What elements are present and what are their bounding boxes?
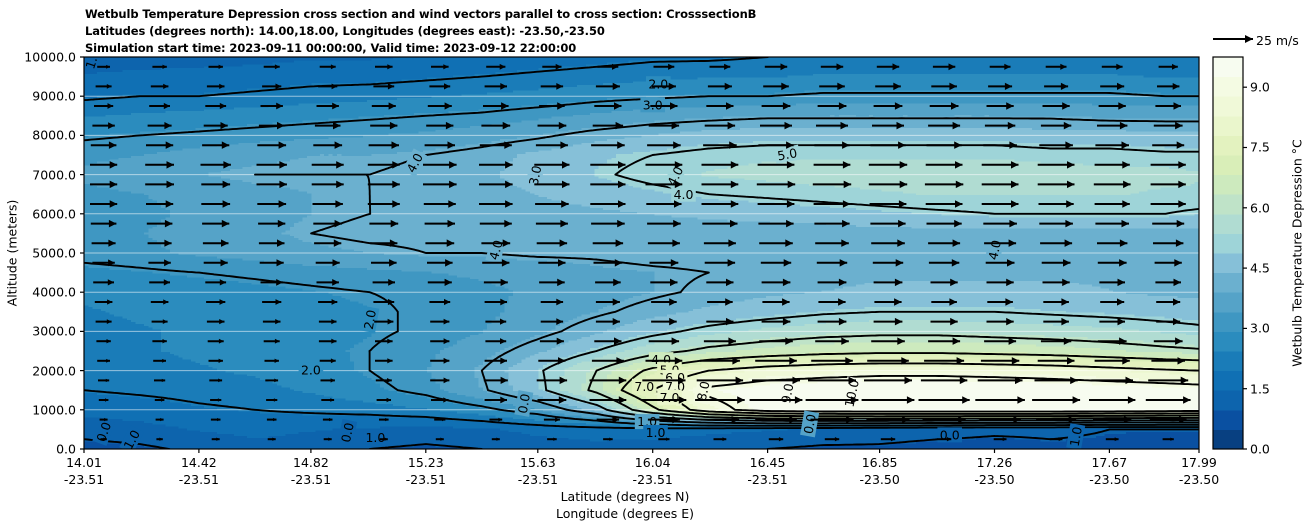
y-axis-tick-label: 7000.0 <box>0 167 76 182</box>
x-axis-tick-label-latitude: 17.67 <box>1091 455 1127 470</box>
contour-label: 4.0 <box>671 187 696 202</box>
y-axis-tick-label: 9000.0 <box>0 89 76 104</box>
contour-label: 0.0 <box>937 427 962 442</box>
cross-section-plot: 1.02.03.05.04.03.04.04.04.04.02.02.04.05… <box>0 0 1312 526</box>
colorbar-tick-label: 0.0 <box>1250 442 1270 457</box>
x-axis-tick-label-longitude: -23.51 <box>64 472 104 487</box>
x-axis-tick-label-longitude: -23.51 <box>291 472 331 487</box>
y-axis-tick-label: 0.0 <box>0 442 76 457</box>
y-axis-tick-label: 8000.0 <box>0 128 76 143</box>
y-axis-tick-label: 3000.0 <box>0 324 76 339</box>
y-axis-tick-label: 4000.0 <box>0 285 76 300</box>
y-axis-tick-label: 10000.0 <box>0 50 76 65</box>
colorbar-tick-label: 9.0 <box>1250 80 1270 95</box>
x-axis-tick-label-longitude: -23.50 <box>859 472 899 487</box>
x-axis-tick-label-longitude: -23.50 <box>1089 472 1129 487</box>
y-axis-tick-label: 2000.0 <box>0 363 76 378</box>
x-axis-tick-label-latitude: 17.99 <box>1181 455 1217 470</box>
y-axis-tick-label: 6000.0 <box>0 206 76 221</box>
contour-label: 2.0 <box>299 362 324 377</box>
x-axis-tick-label-longitude: -23.51 <box>406 472 446 487</box>
colorbar-tick-label: 4.5 <box>1250 261 1270 276</box>
x-axis-tick-label-latitude: 17.26 <box>977 455 1013 470</box>
x-axis-tick-label-longitude: -23.51 <box>747 472 787 487</box>
contour-label: 7.0 <box>657 390 682 405</box>
x-axis-tick-label-longitude: -23.51 <box>179 472 219 487</box>
x-axis-tick-label-latitude: 14.01 <box>66 455 102 470</box>
x-axis-tick-label-latitude: 15.23 <box>408 455 444 470</box>
contour-label: 2.0 <box>646 76 671 91</box>
colorbar-tick-label: 6.0 <box>1250 200 1270 215</box>
x-axis-tick-label-latitude: 16.85 <box>862 455 898 470</box>
x-axis-tick-label-latitude: 16.45 <box>750 455 786 470</box>
colorbar-tick-label: 7.5 <box>1250 140 1270 155</box>
x-axis-tick-label-latitude: 14.82 <box>293 455 329 470</box>
colorbar-tick-label: 1.5 <box>1250 381 1270 396</box>
x-axis-tick-label-longitude: -23.51 <box>633 472 673 487</box>
figure-canvas: Wetbulb Temperature Depression cross sec… <box>0 0 1312 526</box>
contour-label: 1.0 <box>363 430 388 445</box>
x-axis-tick-label-latitude: 14.42 <box>181 455 217 470</box>
x-axis-tick-label-latitude: 15.63 <box>520 455 556 470</box>
contour-label: 1.0 <box>643 425 668 440</box>
x-axis-tick-label-longitude: -23.51 <box>518 472 558 487</box>
x-axis-tick-label-longitude: -23.50 <box>974 472 1014 487</box>
contour-label: 3.0 <box>640 97 665 112</box>
y-axis-tick-label: 1000.0 <box>0 402 76 417</box>
x-axis-tick-label-longitude: -23.50 <box>1179 472 1219 487</box>
colorbar-tick-label: 3.0 <box>1250 321 1270 336</box>
x-axis-tick-label-latitude: 16.04 <box>635 455 671 470</box>
y-axis-tick-label: 5000.0 <box>0 246 76 261</box>
